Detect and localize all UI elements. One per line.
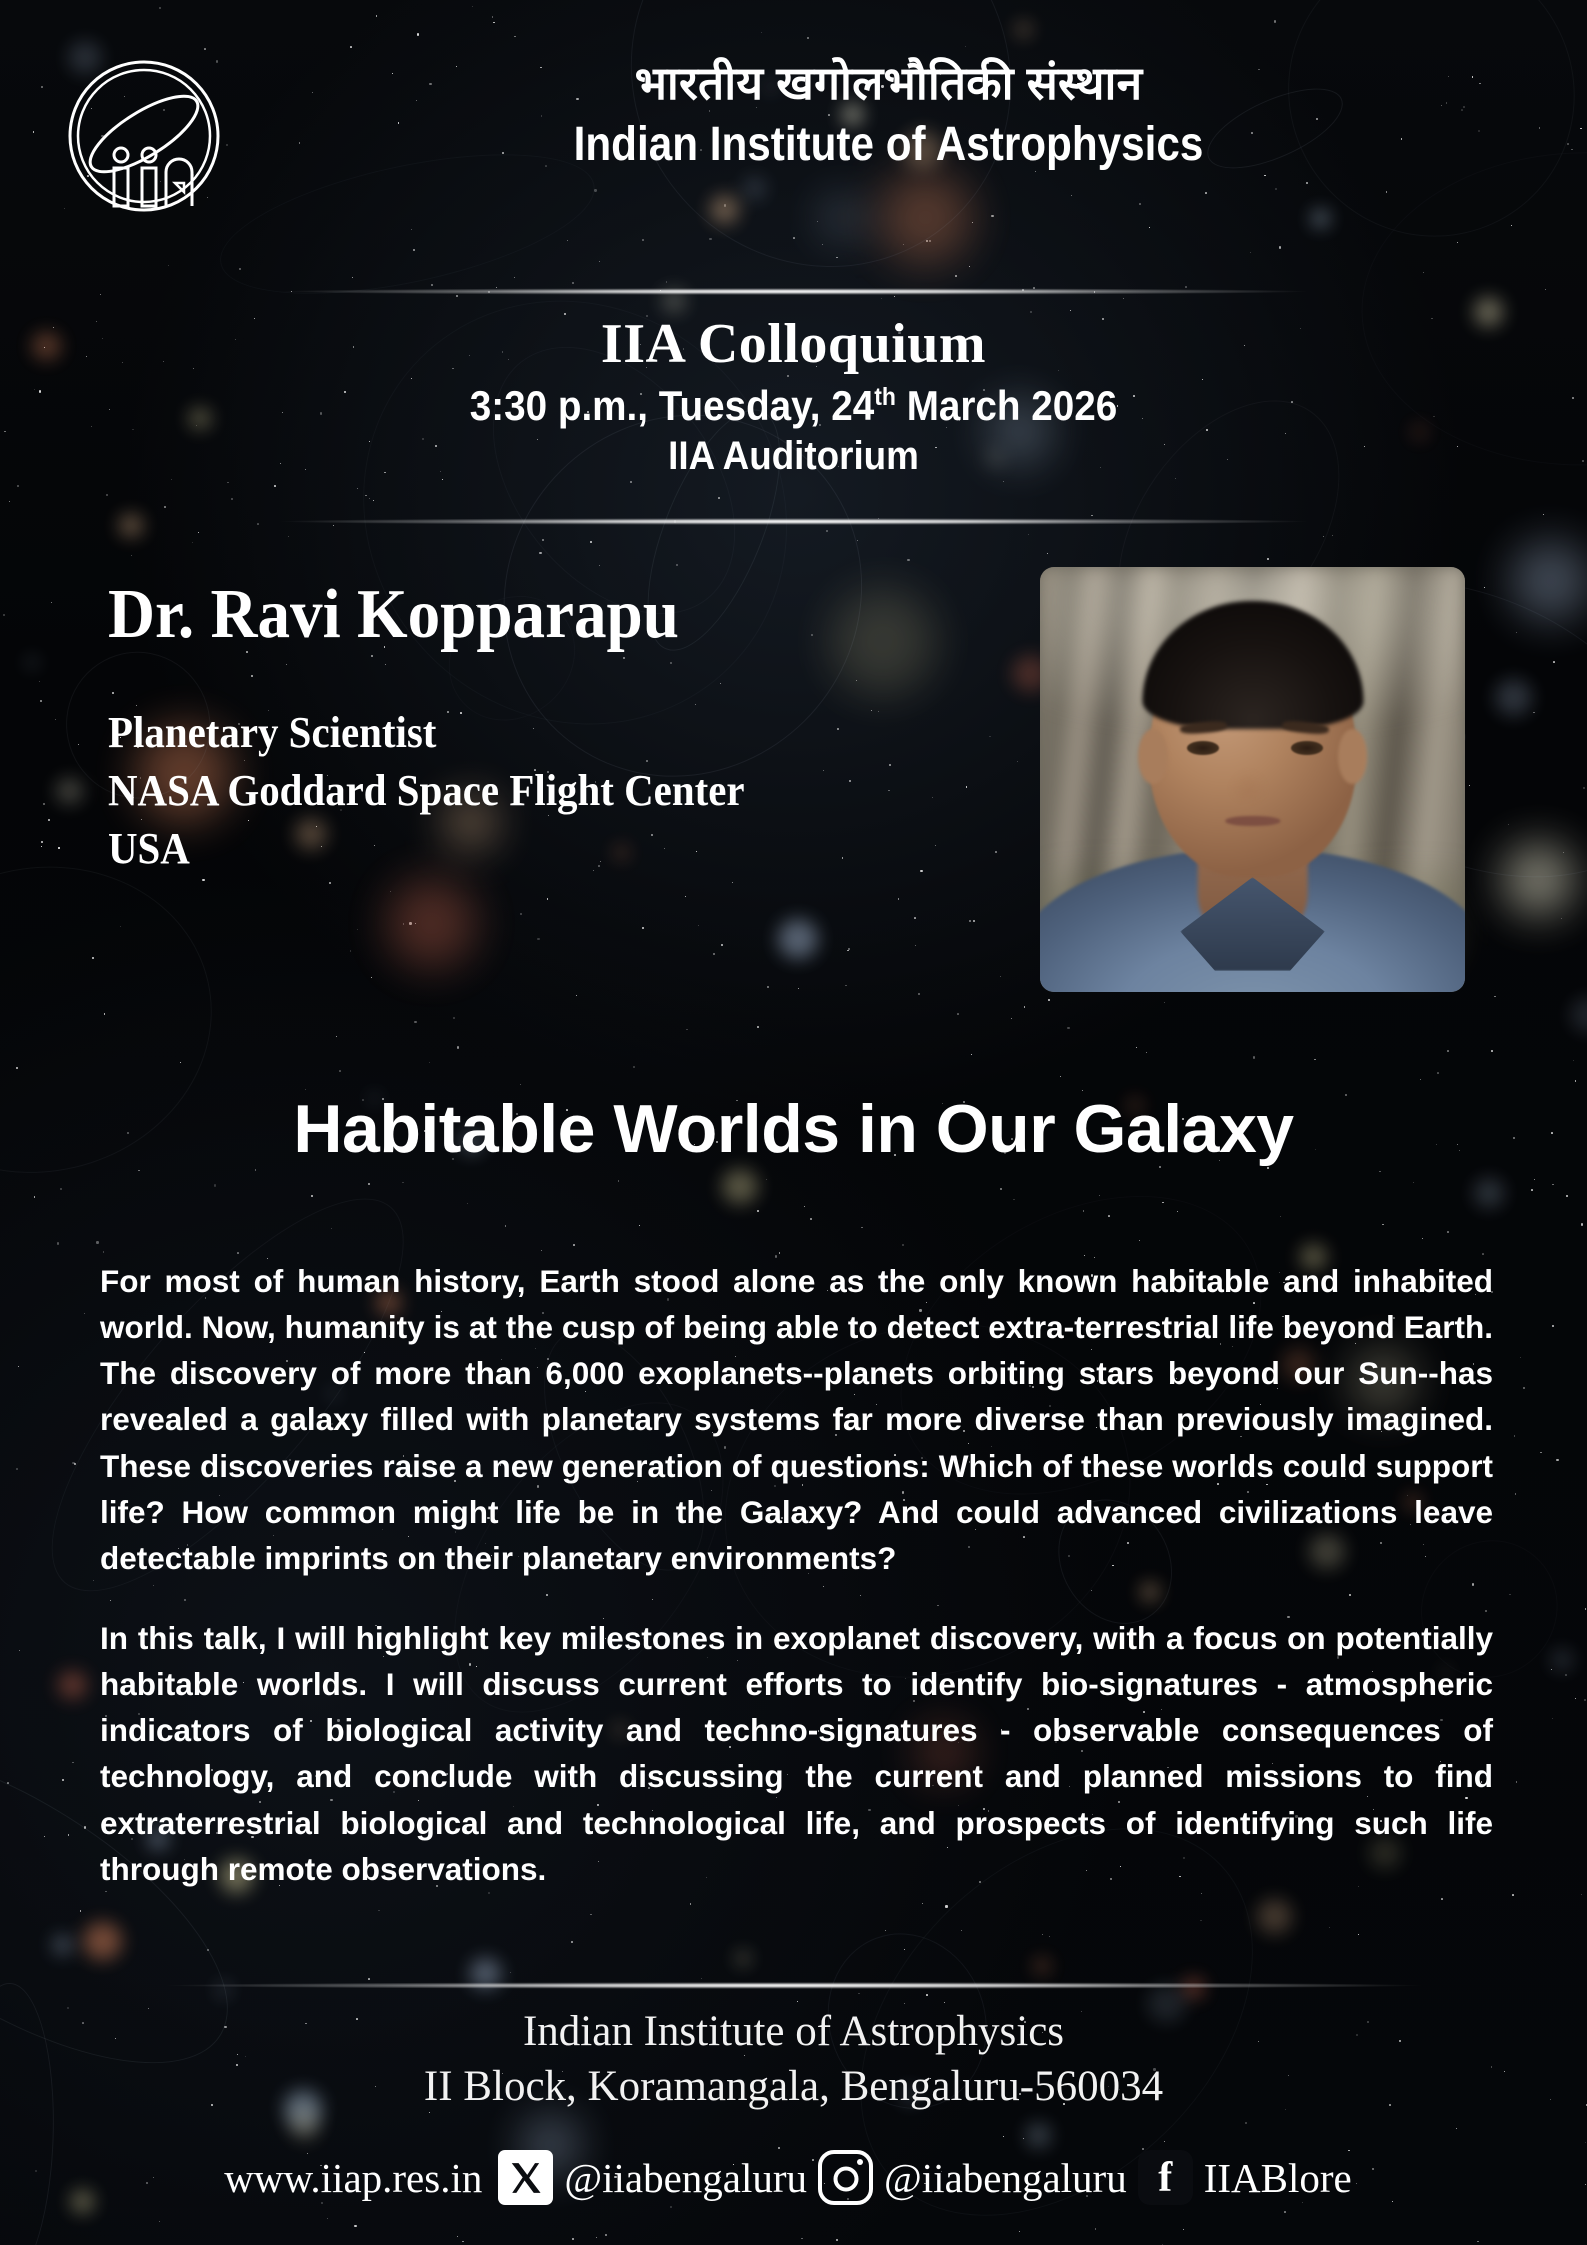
facebook-glyph: f [1158, 2157, 1172, 2199]
divider-top [279, 288, 1309, 295]
colloquium-date: March 2026 [896, 382, 1117, 429]
date-ordinal-suffix: th [874, 383, 896, 411]
photo-mouth [1225, 816, 1280, 826]
x-twitter-icon[interactable] [498, 2150, 553, 2205]
colloquium-venue: IIA Auditorium [63, 434, 1523, 479]
photo-nose [1229, 763, 1267, 801]
colloquium-datetime: 3:30 p.m., Tuesday, 24th March 2026 [63, 382, 1523, 430]
poster-header: भारतीय खगोलभौतिकी संस्थान Indian Institu… [0, 26, 1587, 226]
institute-name-hindi: भारतीय खगोलभौतिकी संस्थान [250, 56, 1527, 110]
colloquium-info: IIA Colloquium 3:30 p.m., Tuesday, 24th … [0, 312, 1587, 479]
talk-abstract: For most of human history, Earth stood a… [100, 1258, 1493, 1892]
divider-second [279, 518, 1309, 525]
footer-org-name: Indian Institute of Astrophysics [0, 2004, 1587, 2059]
instagram-handle[interactable]: @iiabengaluru [873, 2154, 1138, 2202]
website-link[interactable]: www.iiap.res.in [224, 2154, 498, 2202]
instagram-lens [833, 2166, 858, 2191]
footer-address-block: Indian Institute of Astrophysics II Bloc… [0, 2004, 1587, 2114]
photo-eye-left [1187, 741, 1219, 755]
speaker-name: Dr. Ravi Kopparapu [108, 578, 926, 652]
photo-eye-right [1291, 741, 1323, 755]
photo-ear-right [1338, 729, 1368, 784]
divider-footer [164, 1982, 1424, 1989]
photo-ear-left [1138, 729, 1168, 784]
speaker-photo [1040, 567, 1465, 992]
iia-logo-icon [62, 54, 227, 219]
colloquium-poster: भारतीय खगोलभौतिकी संस्थान Indian Institu… [0, 0, 1587, 2245]
x-handle[interactable]: @iiabengaluru [553, 2154, 818, 2202]
footer-social-row: www.iiap.res.in @iiabengaluru @iiabengal… [0, 2150, 1587, 2205]
colloquium-time: 3:30 p.m., Tuesday, 24 [470, 382, 874, 429]
speaker-block: Dr. Ravi Kopparapu Planetary Scientist N… [108, 578, 988, 878]
speaker-country: USA [108, 820, 926, 878]
talk-title: Habitable Worlds in Our Galaxy [0, 1090, 1587, 1168]
instagram-dot [857, 2159, 863, 2165]
facebook-handle[interactable]: IIABlore [1193, 2154, 1363, 2202]
abstract-paragraph-1: For most of human history, Earth stood a… [100, 1258, 1493, 1581]
footer-address: II Block, Koramangala, Bengaluru-560034 [0, 2059, 1587, 2114]
institute-titles: भारतीय खगोलभौतिकी संस्थान Indian Institu… [250, 56, 1527, 174]
speaker-role: Planetary Scientist [108, 704, 926, 762]
institute-name-english: Indian Institute of Astrophysics [327, 116, 1451, 174]
speaker-affiliation: Planetary Scientist NASA Goddard Space F… [108, 704, 926, 878]
abstract-paragraph-2: In this talk, I will highlight key miles… [100, 1615, 1493, 1892]
facebook-icon[interactable]: f [1138, 2150, 1193, 2205]
colloquium-title: IIA Colloquium [0, 312, 1587, 376]
instagram-icon[interactable] [818, 2150, 873, 2205]
speaker-organization: NASA Goddard Space Flight Center [108, 762, 926, 820]
